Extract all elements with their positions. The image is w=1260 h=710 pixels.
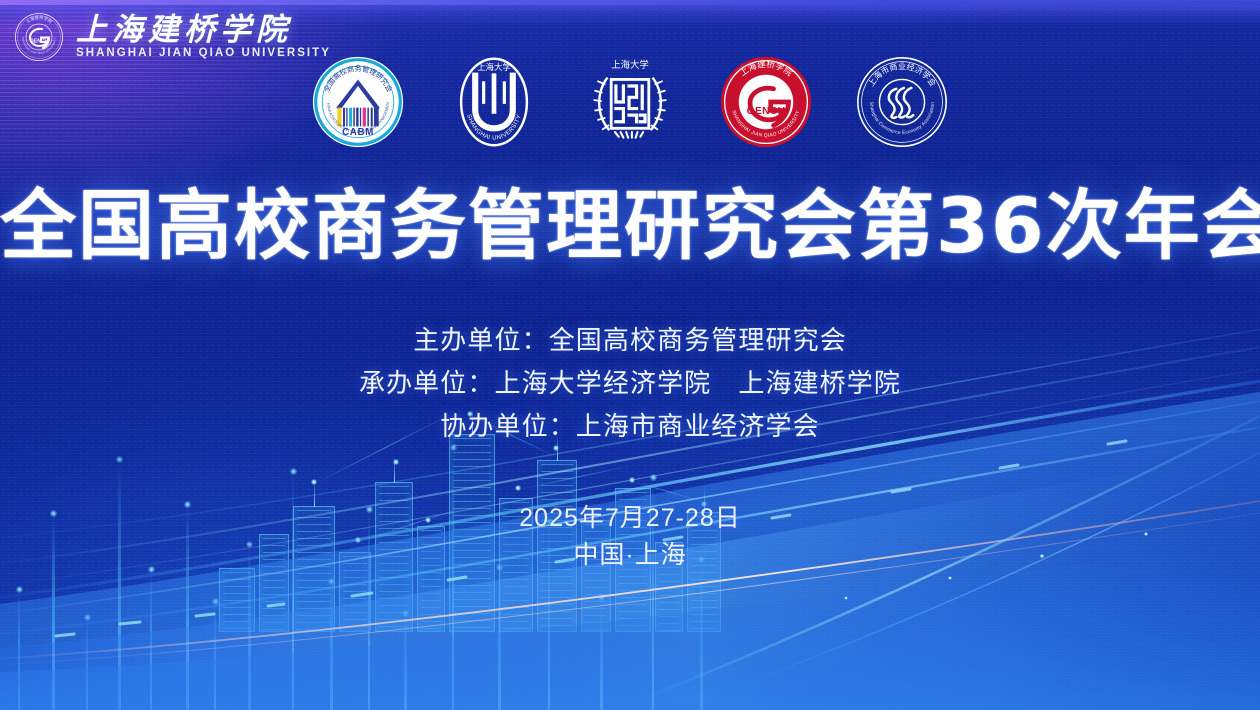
brand-name-cn: 上海建桥学院 xyxy=(76,15,331,46)
logo-shanghai-university-seal: 上海大学 xyxy=(583,55,677,149)
shanghai-university-seal-icon: 上海大学 xyxy=(583,55,677,149)
partner-logo-row: CABM 全国高校商务管理研究会 CHINA ASSOCIATION OF BU… xyxy=(0,55,1260,149)
organizer-list: 主办单位：全国高校商务管理研究会 承办单位：上海大学经济学院 上海建桥学院 协办… xyxy=(0,326,1260,441)
svg-text:上海大学: 上海大学 xyxy=(477,62,511,72)
page-title: 全国高校商务管理研究会第36次年会 xyxy=(0,188,1260,264)
event-meta: 2025年7月27-28日 中国·上海 xyxy=(0,504,1260,570)
svg-text:GENCH: GENCH xyxy=(30,39,48,45)
organizer-coorganizer: 协办单位：上海市商业经济学会 xyxy=(440,412,819,441)
background-top-edge-line xyxy=(0,0,1260,5)
logo-gench: GENCH 上海建桥学院 SHANGHAI JIAN QIAO UNIVERSI… xyxy=(719,55,813,149)
gench-logo-icon: GENCH 上海建桥学院 SHANGHAI JIAN QIAO UNIVERSI… xyxy=(719,55,813,149)
cabm-logo-icon: CABM 全国高校商务管理研究会 CHINA ASSOCIATION OF BU… xyxy=(311,55,405,149)
logo-shanghai-commerce-economy-association: 上海市商业经济学会 Shanghai Commerce Economy Asso… xyxy=(855,55,949,149)
organizer-organizer: 承办单位：上海大学经济学院 上海建桥学院 xyxy=(359,369,901,398)
event-date: 2025年7月27-28日 xyxy=(519,504,740,533)
shanghai-commerce-economy-association-logo-icon: 上海市商业经济学会 Shanghai Commerce Economy Asso… xyxy=(855,55,949,149)
conference-banner: GENCH 上海建桥学院 SHANGHAI JIAN QIAO UNIVERSI… xyxy=(0,0,1260,710)
event-location: 中国·上海 xyxy=(573,541,686,570)
logo-cabm: CABM 全国高校商务管理研究会 CHINA ASSOCIATION OF BU… xyxy=(311,55,405,149)
svg-text:GENCH: GENCH xyxy=(747,106,786,117)
logo-shanghai-university: 上海大学 SHANGHAI UNIVERSITY xyxy=(447,55,541,149)
shanghai-university-logo-icon: 上海大学 SHANGHAI UNIVERSITY xyxy=(447,55,541,149)
svg-text:上海大学: 上海大学 xyxy=(611,59,649,71)
organizer-host: 主办单位：全国高校商务管理研究会 xyxy=(413,326,847,355)
